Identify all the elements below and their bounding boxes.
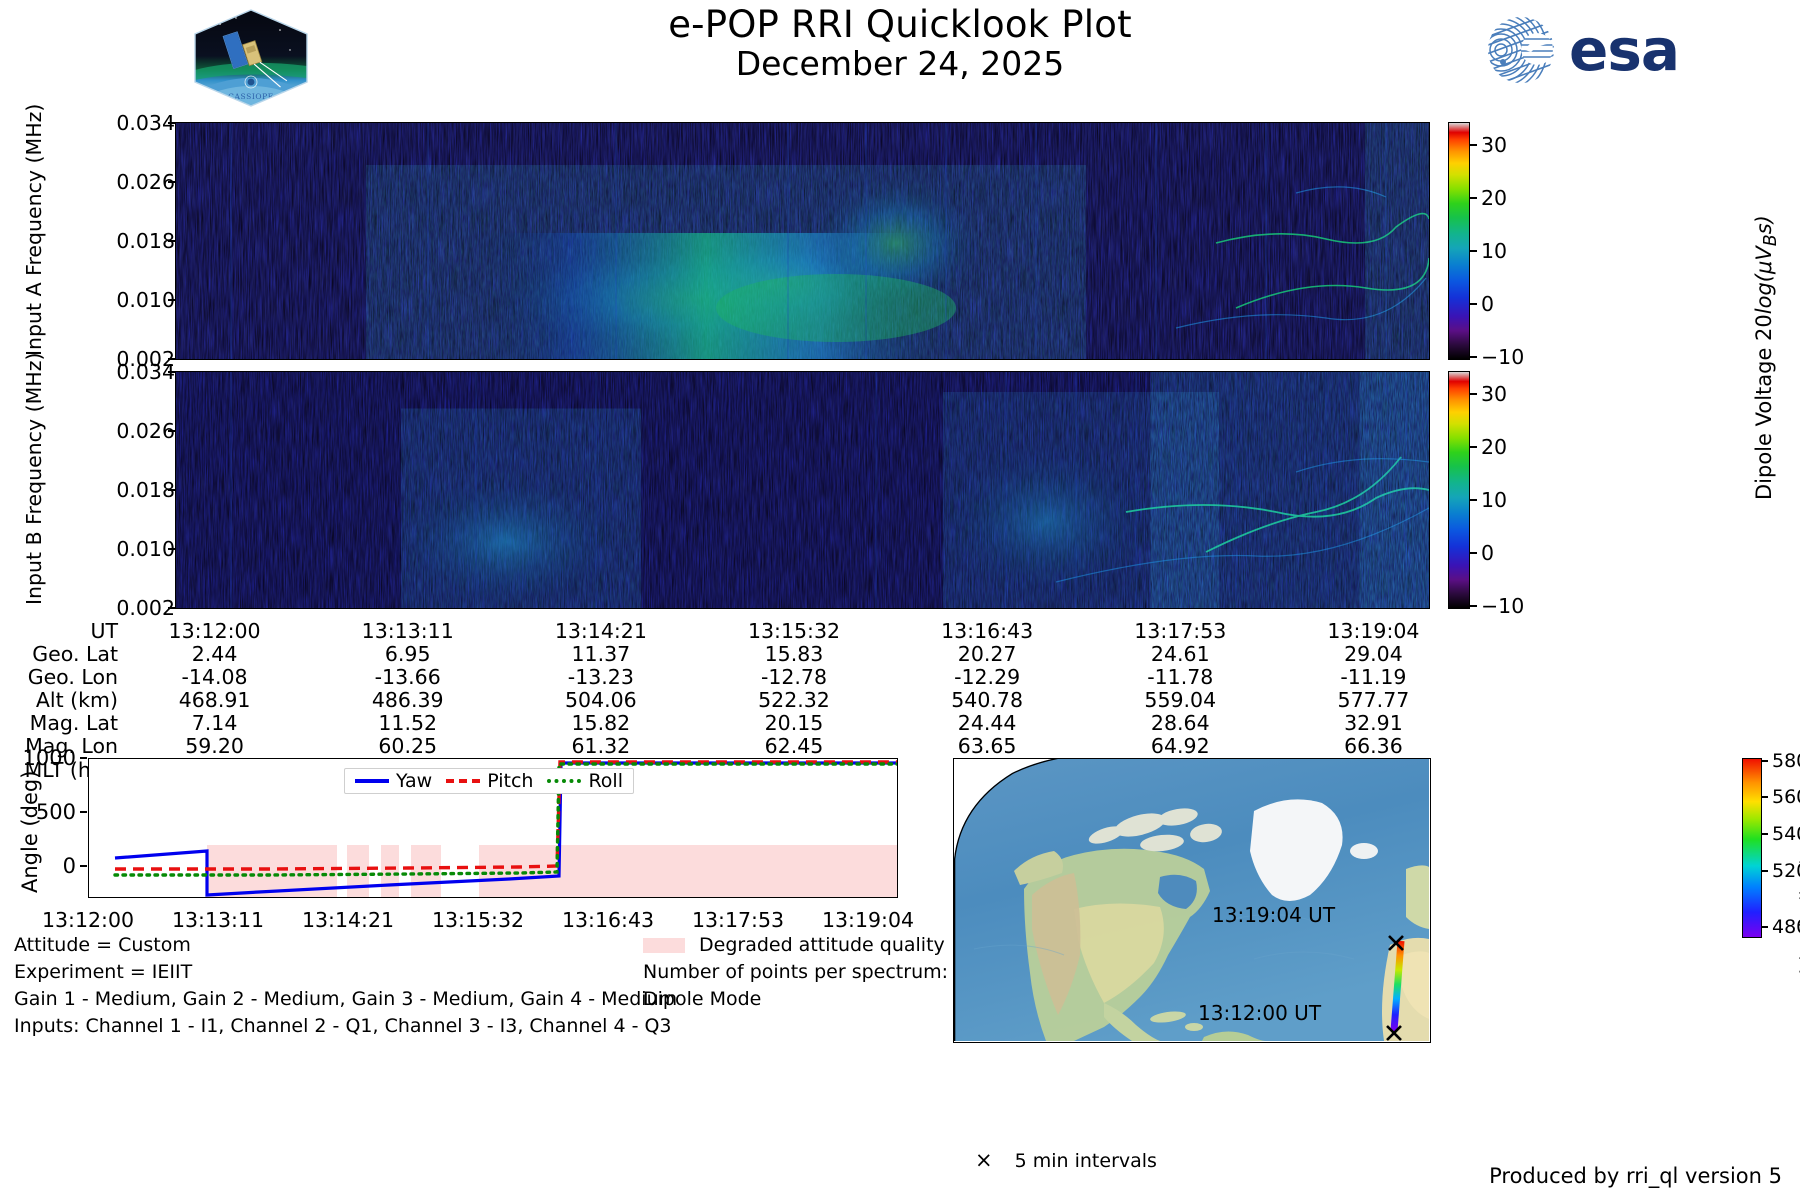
att-xtick-0: 13:12:00 (26, 908, 150, 932)
cell-ut-1: 13:13:11 (311, 620, 504, 643)
altitude-colorbar[interactable] (1742, 758, 1762, 938)
spec-a-ytick-2: 0.018 (10, 229, 175, 253)
cell-maglon-3: 62.45 (697, 735, 890, 758)
spec-a-ytick-1: 0.026 (10, 170, 175, 194)
cell-maglat-4: 24.44 (891, 712, 1084, 735)
spec-a-cbtick-4: −10 (1481, 345, 1524, 369)
cell-geolon-0: -14.08 (118, 666, 311, 689)
spec-b-ytick-2: 0.018 (10, 478, 175, 502)
att-xtick-5: 13:17:53 (676, 908, 800, 932)
attitude-ytick-0: 0 (0, 854, 76, 878)
att-xtick-3: 13:15:32 (416, 908, 540, 932)
footer-gains: Gain 1 - Medium, Gain 2 - Medium, Gain 3… (14, 986, 677, 1013)
roll-line-icon (547, 779, 581, 783)
map-start-time-label: 13:12:00 UT (1198, 1001, 1321, 1025)
colorbar-axis-label: Dipole Voltage 20log(μVBs) (1752, 215, 1781, 500)
colorbar-label-prefix: Dipole Voltage 20 (1752, 314, 1776, 500)
legend-item-roll: Roll (547, 770, 623, 792)
spec-a-axis-labels: Input A Frequency (MHz) 0.034 0.026 0.01… (0, 122, 175, 360)
interval-marker-icon: × (975, 1148, 993, 1172)
row-label-geolat: Geo. Lat (0, 643, 118, 666)
table-row: Alt (km) 468.91 486.39 504.06 522.32 540… (0, 689, 1470, 712)
cell-maglon-0: 59.20 (118, 735, 311, 758)
ground-track-map[interactable]: 13:19:04 UT 13:12:00 UT (953, 758, 1431, 1043)
spec-a-cbtick-3: 0 (1481, 292, 1494, 316)
cell-maglat-1: 11.52 (311, 712, 504, 735)
row-label-alt: Alt (km) (0, 689, 118, 712)
att-xtick-4: 13:16:43 (546, 908, 670, 932)
cell-geolat-6: 29.04 (1277, 643, 1470, 666)
legend-item-pitch: Pitch (446, 770, 533, 792)
cell-geolat-2: 11.37 (504, 643, 697, 666)
cell-maglon-4: 63.65 (891, 735, 1084, 758)
cell-ut-0: 13:12:00 (118, 620, 311, 643)
cell-geolon-1: -13.66 (311, 666, 504, 689)
degraded-legend-label: Degraded attitude quality (699, 934, 945, 956)
dipole-mode: Dipole Mode (643, 986, 1002, 1013)
colorbar-label-log: log(μV (1752, 246, 1776, 314)
cell-maglon-5: 64.92 (1084, 735, 1277, 758)
input-b-spectrogram[interactable] (175, 371, 1430, 609)
spec-b-cbtick-0: 30 (1481, 382, 1507, 406)
attitude-xaxis: 13:12:00 13:13:11 13:14:21 13:15:32 13:1… (88, 900, 898, 930)
spec-b-cbtick-2: 10 (1481, 488, 1507, 512)
spec-b-cbtick-1: 20 (1481, 435, 1507, 459)
cell-ut-2: 13:14:21 (504, 620, 697, 643)
spec-b-ytick-0: 0.034 (10, 360, 175, 384)
interval-legend-label: 5 min intervals (1015, 1150, 1157, 1172)
legend-label-roll: Roll (588, 770, 623, 792)
cell-alt-6: 577.77 (1277, 689, 1470, 712)
table-row: UT 13:12:00 13:13:11 13:14:21 13:15:32 1… (0, 620, 1470, 643)
spec-a-cbtick-1: 20 (1481, 186, 1507, 210)
cell-geolat-4: 20.27 (891, 643, 1084, 666)
cell-alt-0: 468.91 (118, 689, 311, 712)
spec-b-colorbar-ticks: 30 20 10 0 −10 (1470, 371, 1560, 609)
cell-maglat-6: 32.91 (1277, 712, 1470, 735)
cell-geolon-3: -12.78 (697, 666, 890, 689)
map-end-time-label: 13:19:04 UT (1212, 903, 1335, 927)
degraded-legend-row: Degraded attitude quality (643, 932, 1002, 959)
row-label-maglat: Mag. Lat (0, 712, 118, 735)
table-row: Geo. Lat 2.44 6.95 11.37 15.83 20.27 24.… (0, 643, 1470, 666)
footer-mid-block: Degraded attitude quality Number of poin… (643, 932, 1002, 1013)
alt-tick-580: 580 (1772, 750, 1800, 772)
footer-inputs: Inputs: Channel 1 - I1, Channel 2 - Q1, … (14, 1013, 677, 1040)
yaw-line-icon (355, 779, 389, 783)
cell-geolat-3: 15.83 (697, 643, 890, 666)
att-xtick-6: 13:19:04 (806, 908, 930, 932)
table-row: Mag. Lat 7.14 11.52 15.82 20.15 24.44 28… (0, 712, 1470, 735)
cell-alt-1: 486.39 (311, 689, 504, 712)
attitude-legend[interactable]: Yaw Pitch Roll (344, 768, 634, 794)
cell-maglon-1: 60.25 (311, 735, 504, 758)
altitude-colorbar-label: Altitude (km) (1796, 857, 1800, 988)
degraded-swatch-icon (643, 938, 685, 953)
table-row: Mag. Lon 59.20 60.25 61.32 62.45 63.65 6… (0, 735, 1470, 758)
cassiope-mission-logo-icon: CASSIOPE (190, 8, 312, 108)
points-per-spectrum: Number of points per spectrum: 5208 (643, 959, 1002, 986)
cell-ut-3: 13:15:32 (697, 620, 890, 643)
input-a-spectrogram[interactable] (175, 122, 1430, 360)
spec-a-ytick-3: 0.010 (10, 288, 175, 312)
esa-agency-logo-icon: esa (1485, 14, 1710, 86)
svg-text:esa: esa (1569, 16, 1679, 84)
alt-tick-540: 540 (1772, 823, 1800, 845)
cell-alt-4: 540.78 (891, 689, 1084, 712)
pitch-line-icon (446, 779, 480, 783)
spec-a-cbtick-2: 10 (1481, 239, 1507, 263)
row-label-geolon: Geo. Lon (0, 666, 118, 689)
altitude-colorbar-ticks: 580 560 540 520 480 (1762, 758, 1800, 958)
row-label-ut: UT (0, 620, 118, 643)
spec-a-colorbar[interactable] (1448, 122, 1470, 360)
cell-alt-2: 504.06 (504, 689, 697, 712)
spec-b-ytick-1: 0.026 (10, 419, 175, 443)
cell-geolat-1: 6.95 (311, 643, 504, 666)
cell-maglat-2: 15.82 (504, 712, 697, 735)
cell-geolon-2: -13.23 (504, 666, 697, 689)
spec-b-ytick-4: 0.002 (10, 596, 175, 620)
spec-b-ytick-3: 0.010 (10, 537, 175, 561)
cell-geolon-6: -11.19 (1277, 666, 1470, 689)
att-xtick-2: 13:14:21 (286, 908, 410, 932)
spec-b-colorbar[interactable] (1448, 371, 1470, 609)
colorbar-label-suffix: s) (1752, 215, 1776, 234)
legend-label-pitch: Pitch (487, 770, 533, 792)
footer-experiment: Experiment = IEIIT (14, 959, 677, 986)
cell-maglat-3: 20.15 (697, 712, 890, 735)
colorbar-label-sub: B (1761, 234, 1781, 246)
spec-b-axis-labels: Input B Frequency (MHz) 0.034 0.026 0.01… (0, 371, 175, 609)
legend-item-yaw: Yaw (355, 770, 432, 792)
attitude-ytick-1000: 1000 (0, 746, 76, 770)
cell-maglon-6: 66.36 (1277, 735, 1470, 758)
table-row: Geo. Lon -14.08 -13.66 -13.23 -12.78 -12… (0, 666, 1470, 689)
cell-geolat-0: 2.44 (118, 643, 311, 666)
cell-ut-6: 13:19:04 (1277, 620, 1470, 643)
spec-a-ytick-0: 0.034 (10, 111, 175, 135)
spec-a-cbtick-0: 30 (1481, 133, 1507, 157)
cell-geolat-5: 24.61 (1084, 643, 1277, 666)
spec-b-cbtick-3: 0 (1481, 541, 1494, 565)
legend-label-yaw: Yaw (396, 770, 432, 792)
produced-by-label: Produced by rri_ql version 5 (1489, 1164, 1782, 1188)
cell-geolon-5: -11.78 (1084, 666, 1277, 689)
cell-maglat-5: 28.64 (1084, 712, 1277, 735)
cell-maglat-0: 7.14 (118, 712, 311, 735)
attitude-ytick-500: 500 (0, 800, 76, 824)
footer-attitude: Attitude = Custom (14, 932, 677, 959)
cell-ut-5: 13:17:53 (1084, 620, 1277, 643)
att-xtick-1: 13:13:11 (156, 908, 280, 932)
footer-left-block: Attitude = Custom Experiment = IEIIT Gai… (14, 932, 677, 1040)
spec-b-cbtick-4: −10 (1481, 594, 1524, 618)
alt-tick-560: 560 (1772, 786, 1800, 808)
cell-geolon-4: -12.29 (891, 666, 1084, 689)
cell-maglon-2: 61.32 (504, 735, 697, 758)
spec-a-colorbar-ticks: 30 20 10 0 −10 (1470, 122, 1560, 360)
map-interval-legend: ×5 min intervals (975, 1148, 1157, 1172)
cell-alt-5: 559.04 (1084, 689, 1277, 712)
attitude-ylabel-wrap: Angle (deg) 1000 500 0 (0, 758, 88, 898)
cell-alt-3: 522.32 (697, 689, 890, 712)
cell-ut-4: 13:16:43 (891, 620, 1084, 643)
